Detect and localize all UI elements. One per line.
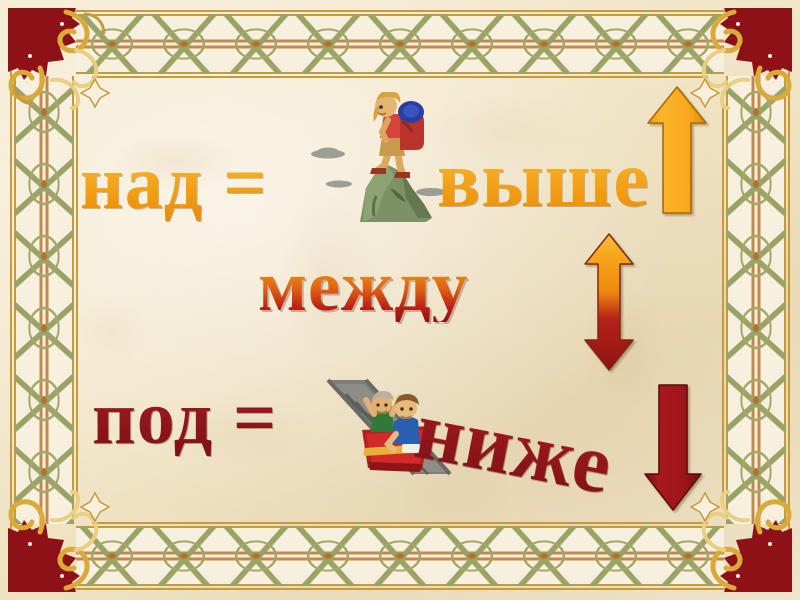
word-nizhe: ниже [409,388,619,508]
border-band-bottom [76,526,724,586]
frame-rule-outer-left [10,10,12,590]
arrow-up-icon [646,85,708,215]
arrow-down-icon [643,382,703,512]
frame-rule-inner-top [92,76,708,78]
word-mezhdu: между [258,250,469,322]
corner-ornament-icon [6,490,110,594]
slide-canvas: над = [0,0,800,600]
border-band-left [14,76,74,524]
word-vyshe: выше [437,140,650,220]
word-nad: над = [80,145,268,221]
frame-rule-inner-bottom [92,522,708,524]
corner-ornament-icon [6,6,110,110]
border-band-top [76,14,724,74]
frame-rule-outer-right [788,10,790,590]
frame-rule-inner-left [76,92,78,508]
frame-rule-outer-bottom [10,588,790,590]
hiker-icon [306,92,458,224]
word-pod: под = [92,380,277,456]
frame-rule-outer-top [10,10,790,12]
arrow-up-down-icon [582,232,636,372]
border-band-right [726,76,786,524]
corner-ornament-icon [690,490,794,594]
frame-rule-inner-right [722,92,724,508]
